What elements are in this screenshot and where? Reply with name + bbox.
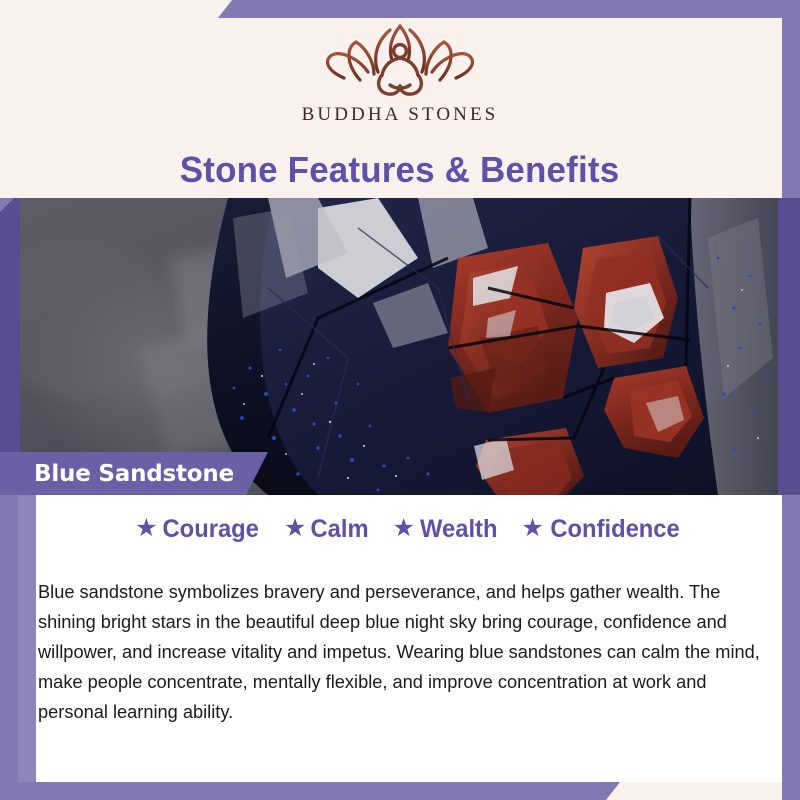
- benefit-label-confidence: Confidence: [550, 515, 679, 544]
- status-badge: Blue Sandstone: [0, 452, 268, 495]
- frame-band-top: [212, 0, 800, 18]
- hero-edge-accent-left: [0, 198, 20, 495]
- description-text: Blue sandstone symbolizes bravery and pe…: [38, 577, 769, 727]
- list-item: ★ Wealth: [392, 515, 499, 544]
- content-panel: ★ Courage ★ Calm ★ Wealth ★ Confidence B…: [36, 495, 782, 782]
- star-icon: ★: [521, 516, 543, 541]
- brand-logo: BUDDHA STONES: [0, 22, 800, 140]
- blue-sandstone-photo: [18, 198, 783, 495]
- brand-name: BUDDHA STONES: [302, 104, 499, 126]
- hero-image: [18, 198, 783, 495]
- star-icon: ★: [135, 516, 157, 541]
- poster-root: BUDDHA STONES Stone Features & Benefits: [0, 0, 800, 800]
- stone-name-label: Blue Sandstone: [34, 461, 234, 487]
- page-title: Stone Features & Benefits: [180, 149, 620, 191]
- hero-edge-accent-right: [778, 198, 800, 495]
- list-item: ★ Confidence: [521, 515, 683, 544]
- headline-banner: Stone Features & Benefits: [36, 142, 764, 198]
- frame-band-bottom: [0, 782, 620, 800]
- benefits-list: ★ Courage ★ Calm ★ Wealth ★ Confidence: [36, 515, 782, 544]
- benefit-label-calm: Calm: [311, 515, 369, 544]
- list-item: ★ Courage: [135, 515, 262, 544]
- star-icon: ★: [392, 516, 414, 541]
- star-icon: ★: [284, 516, 306, 541]
- benefit-label-wealth: Wealth: [420, 515, 497, 544]
- list-item: ★ Calm: [284, 515, 371, 544]
- panel-accent-left: [18, 495, 36, 782]
- lotus-meditation-figure-icon: [316, 22, 484, 100]
- benefit-label-courage: Courage: [163, 515, 259, 544]
